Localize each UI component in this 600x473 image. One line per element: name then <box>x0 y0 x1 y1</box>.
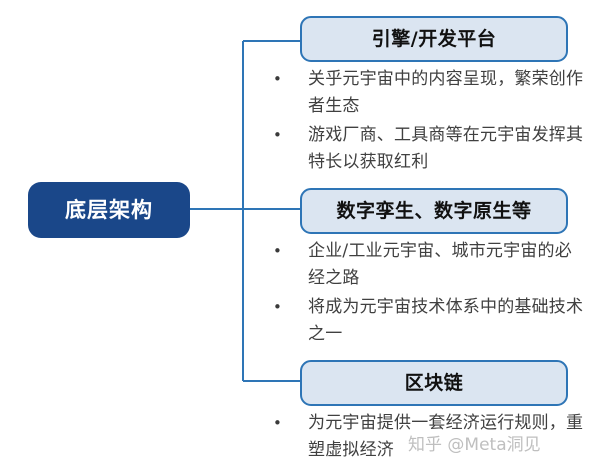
bullet-dot-icon: • <box>268 238 288 265</box>
category-header-label: 区块链 <box>405 374 464 393</box>
root-node[interactable]: 底层架构 <box>28 182 190 238</box>
bullet-item: • 将成为元宇宙技术体系中的基础技术之一 <box>268 294 588 348</box>
bullet-text: 关乎元宇宙中的内容呈现，繁荣创作者生态 <box>288 66 588 120</box>
bullet-dot-icon: • <box>268 410 288 437</box>
root-node-label: 底层架构 <box>65 200 153 221</box>
diagram-canvas: 底层架构 引擎/开发平台 • 关乎元宇宙中的内容呈现，繁荣创作者生态 • 游戏厂… <box>0 0 600 473</box>
category-header-label: 数字孪生、数字原生等 <box>336 202 531 221</box>
category-header-engine[interactable]: 引擎/开发平台 <box>300 16 568 62</box>
bullet-item: • 游戏厂商、工具商等在元宇宙发挥其特长以获取红利 <box>268 122 588 176</box>
category-header-label: 引擎/开发平台 <box>372 30 496 49</box>
watermark: 知乎 @Meta洞见 <box>408 437 541 454</box>
bullet-dot-icon: • <box>268 294 288 321</box>
bullet-item: • 企业/工业元宇宙、城市元宇宙的必经之路 <box>268 238 588 292</box>
bullet-dot-icon: • <box>268 66 288 93</box>
bullet-item: • 关乎元宇宙中的内容呈现，繁荣创作者生态 <box>268 66 588 120</box>
bullet-list-digital-twin: • 企业/工业元宇宙、城市元宇宙的必经之路 • 将成为元宇宙技术体系中的基础技术… <box>268 238 588 350</box>
bullet-list-engine: • 关乎元宇宙中的内容呈现，繁荣创作者生态 • 游戏厂商、工具商等在元宇宙发挥其… <box>268 66 588 178</box>
category-header-digital-twin[interactable]: 数字孪生、数字原生等 <box>300 188 568 234</box>
bullet-text: 游戏厂商、工具商等在元宇宙发挥其特长以获取红利 <box>288 122 588 176</box>
bullet-text: 企业/工业元宇宙、城市元宇宙的必经之路 <box>288 238 588 292</box>
category-header-blockchain[interactable]: 区块链 <box>300 360 568 406</box>
bullet-text: 将成为元宇宙技术体系中的基础技术之一 <box>288 294 588 348</box>
bullet-dot-icon: • <box>268 122 288 149</box>
